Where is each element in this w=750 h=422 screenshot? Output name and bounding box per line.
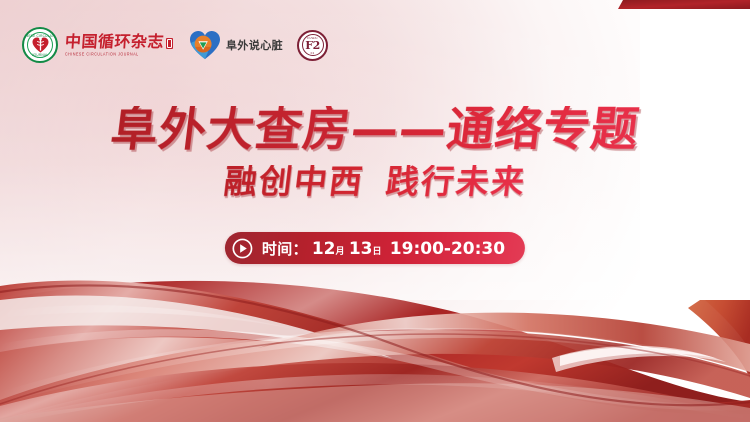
time-day: 13 <box>349 239 373 259</box>
journal-wordmark: 中国循环杂志 CHINESE CIRCULATION JOURNAL <box>65 34 173 56</box>
sub-title-right: 践行未来 <box>384 162 529 201</box>
time-range: 19:00-20:30 <box>390 239 505 259</box>
journal-seal-icon: CHINESE CIRCULATION JOURNAL <box>22 27 58 63</box>
time-month-unit: 月 <box>336 244 345 257</box>
sub-title: 融创中西践行未来 <box>222 165 528 200</box>
f2-seal-text: F2 <box>305 40 319 51</box>
time-label: 时间： <box>262 238 308 259</box>
time-banner: 时间： 12 月 13 日 19:00-20:30 <box>225 232 525 264</box>
logo-f2-seal: FUWAI F2 F2 <box>297 30 328 61</box>
journal-seal-chip-icon <box>166 38 173 49</box>
heart-logo-icon <box>189 30 221 60</box>
play-circle-icon[interactable] <box>232 238 253 259</box>
logo-fuwai-heart-talk: 阜外说心脏 <box>189 30 283 60</box>
title-block: 阜外大查房——通络专题 融创中西践行未来 <box>0 106 750 200</box>
journal-wordmark-en: CHINESE CIRCULATION JOURNAL <box>65 52 173 57</box>
main-title: 阜外大查房——通络专题 <box>108 106 642 155</box>
journal-wordmark-cn: 中国循环杂志 <box>64 34 164 50</box>
caduceus-heart-icon <box>32 37 49 53</box>
time-day-unit: 日 <box>372 244 381 257</box>
journal-seal-arc-bottom: JOURNAL <box>32 53 48 57</box>
webinar-poster: CHINESE CIRCULATION JOURNAL 中国循环杂志 CHINE… <box>0 0 750 422</box>
fuwai-heart-talk-label: 阜外说心脏 <box>226 37 283 53</box>
time-text: 时间： 12 月 13 日 19:00-20:30 <box>262 238 505 259</box>
time-month: 12 <box>312 239 336 259</box>
sub-title-left: 融创中西 <box>222 162 367 201</box>
logo-chinese-circulation-journal: CHINESE CIRCULATION JOURNAL 中国循环杂志 CHINE… <box>22 27 173 63</box>
sponsor-logo-bar: CHINESE CIRCULATION JOURNAL 中国循环杂志 CHINE… <box>22 25 328 65</box>
